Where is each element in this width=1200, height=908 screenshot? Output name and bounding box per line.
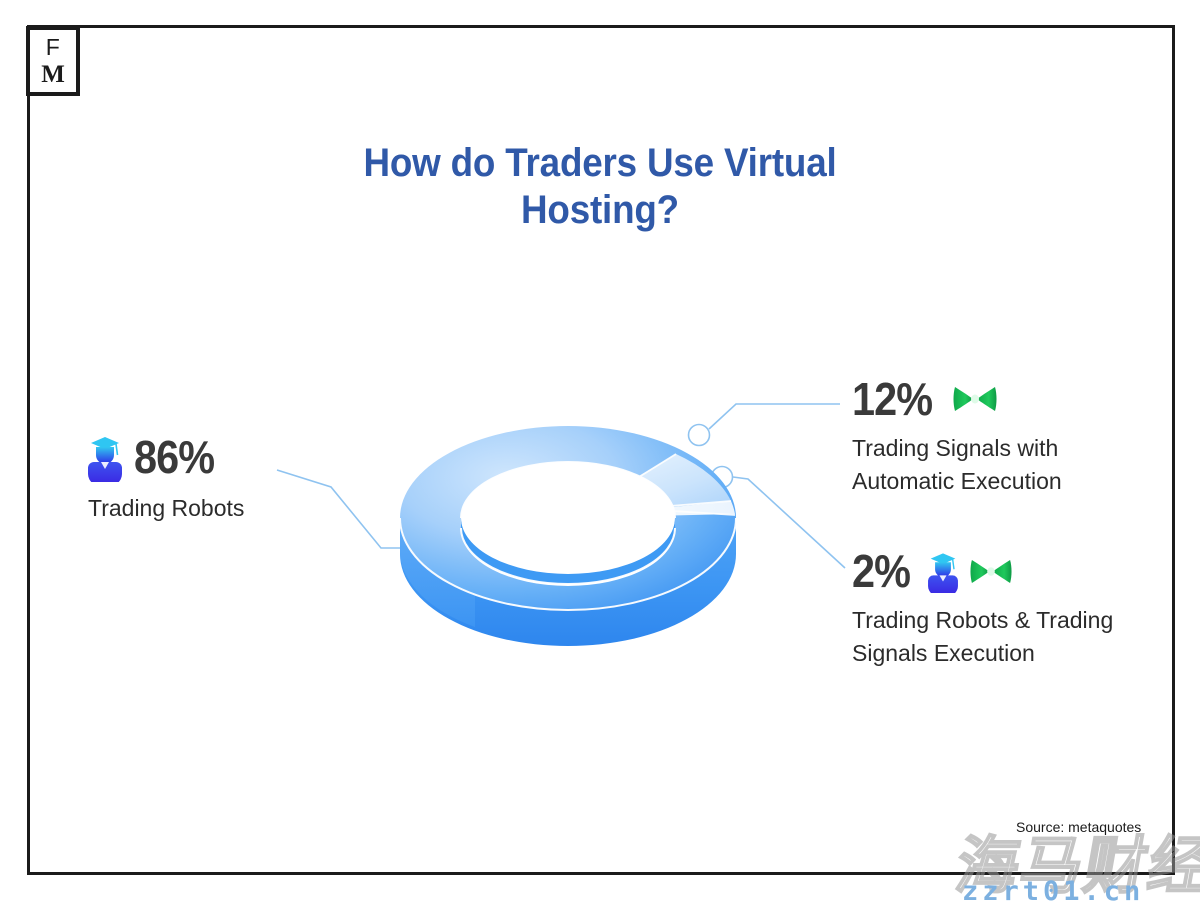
- callout-signals-caption: Trading Signals with Automatic Execution: [852, 432, 1162, 499]
- fm-logo: F M: [26, 26, 80, 96]
- callout-both-caption: Trading Robots & Trading Signals Executi…: [852, 604, 1172, 671]
- callout-robots-caption: Trading Robots: [88, 492, 368, 525]
- watermark-url: zzrt01.cn: [962, 876, 1144, 907]
- callout-signals-value-row: 12%: [852, 376, 1162, 422]
- callout-both-percent: 2%: [852, 548, 910, 594]
- logo-letter-f: F: [46, 36, 61, 59]
- callout-signals-caption-line1: Trading Signals with: [852, 432, 1162, 465]
- donut-chart: [395, 378, 740, 658]
- page-title: How do Traders Use Virtual Hosting?: [269, 140, 931, 234]
- callout-both-caption-line2: Signals Execution: [852, 637, 1172, 670]
- callout-robots: 86% Trading Robots: [88, 432, 368, 525]
- callout-both: 2% Trading Robots & Trading: [852, 548, 1172, 671]
- page-title-line2: Hosting?: [269, 187, 931, 234]
- callout-both-value-row: 2%: [852, 548, 1172, 594]
- robot-graduate-icon: [88, 432, 122, 482]
- green-bowtie-icon: [970, 557, 1012, 586]
- green-bowtie-icon: [953, 384, 997, 414]
- callout-signals-caption-line2: Automatic Execution: [852, 465, 1162, 498]
- callout-robots-value-row: 86%: [88, 432, 368, 482]
- callout-signals: 12% Trading Signals with Automatic: [852, 376, 1162, 499]
- callout-robots-percent: 86%: [134, 434, 214, 480]
- callout-both-caption-line1: Trading Robots & Trading: [852, 604, 1172, 637]
- infographic-canvas: F M How do Traders Use Virtual Hosting?: [0, 0, 1200, 908]
- logo-letter-m: M: [41, 62, 65, 87]
- source-text: Source: metaquotes: [1016, 819, 1141, 835]
- robot-graduate-icon: [928, 549, 958, 593]
- callout-signals-percent: 12%: [852, 376, 932, 422]
- page-title-line1: How do Traders Use Virtual: [269, 140, 931, 187]
